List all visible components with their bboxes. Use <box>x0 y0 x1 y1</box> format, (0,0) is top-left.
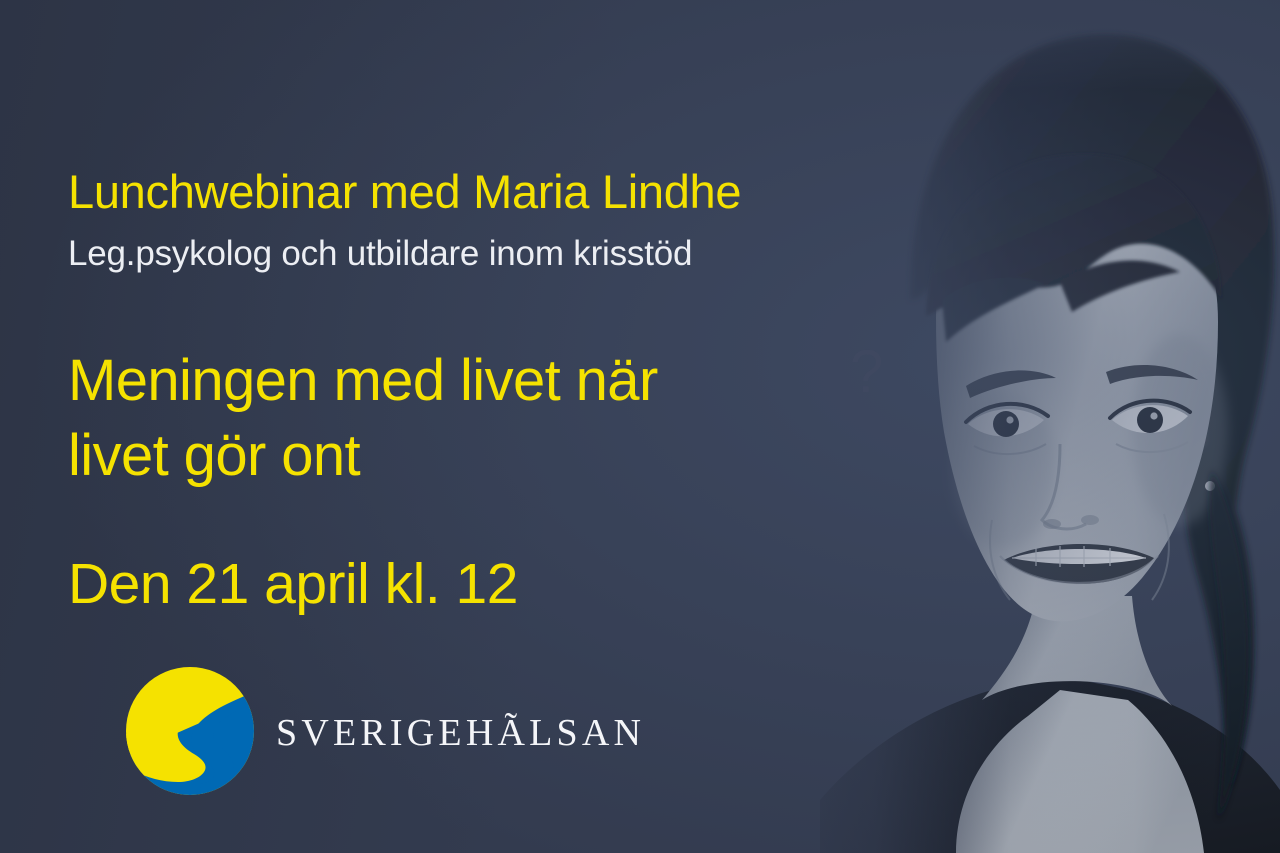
headline: Meningen med livet när livet gör ont <box>68 343 658 494</box>
subkicker-text: Leg.psykolog och utbildare inom krisstöd <box>68 236 692 271</box>
logo-lockup: SVERIGEHÃLSAN <box>126 666 645 796</box>
headline-line-2: livet gör ont <box>68 423 360 488</box>
kicker-text: Lunchwebinar med Maria Lindhe <box>68 168 741 215</box>
webinar-poster: Lunchwebinar med Maria Lindhe Leg.psykol… <box>0 0 1280 853</box>
event-date-text: Den 21 april kl. 12 <box>68 556 518 613</box>
headline-line-1: Meningen med livet när <box>68 348 658 413</box>
sverigehalsan-wordmark: SVERIGEHÃLSAN <box>276 710 645 752</box>
faint-question-mark: ? <box>850 342 883 402</box>
sverigehalsan-logo-icon <box>126 666 254 796</box>
